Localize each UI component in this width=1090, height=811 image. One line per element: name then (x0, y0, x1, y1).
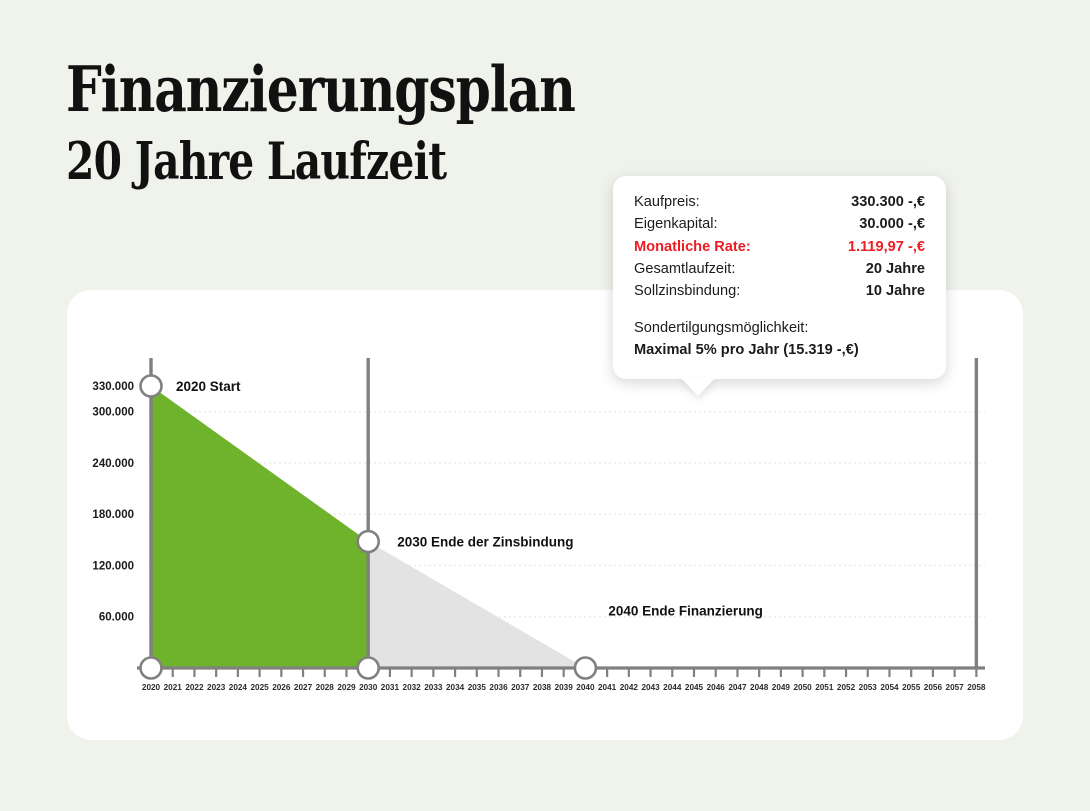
title-subtitle: 20 Jahre Laufzeit (66, 137, 575, 188)
card-row-value: 10 Jahre (866, 280, 925, 302)
card-extra-block: Sondertilgungsmöglichkeit: Maximal 5% pr… (634, 317, 925, 362)
card-extra-title: Sondertilgungsmöglichkeit: (634, 317, 925, 340)
card-row-value: 20 Jahre (866, 258, 925, 280)
card-row-list: Kaufpreis:330.300 -,€Eigenkapital:30.000… (634, 191, 925, 303)
page-title: Finanzierungsplan 20 Jahre Laufzeit (66, 58, 702, 188)
card-row: Sollzinsbindung:10 Jahre (634, 280, 925, 302)
card-row-label: Kaufpreis: (634, 191, 700, 213)
card-row-label: Sollzinsbindung: (634, 280, 740, 302)
card-row-label: Monatliche Rate: (634, 236, 751, 258)
card-row-label: Eigenkapital: (634, 213, 718, 235)
card-extra-value: Maximal 5% pro Jahr (15.319 -,€) (634, 339, 925, 362)
card-row-label: Gesamtlaufzeit: (634, 258, 735, 280)
title-main: Finanzierungsplan (66, 58, 575, 121)
card-row: Eigenkapital:30.000 -,€ (634, 213, 925, 235)
card-row: Gesamtlaufzeit:20 Jahre (634, 258, 925, 280)
card-row: Kaufpreis:330.300 -,€ (634, 191, 925, 213)
card-row: Monatliche Rate:1.119,97 -,€ (634, 236, 925, 258)
summary-info-card: Kaufpreis:330.300 -,€Eigenkapital:30.000… (613, 176, 946, 379)
card-row-value: 30.000 -,€ (859, 213, 925, 235)
card-row-value: 330.300 -,€ (851, 191, 925, 213)
card-row-value: 1.119,97 -,€ (848, 236, 925, 258)
